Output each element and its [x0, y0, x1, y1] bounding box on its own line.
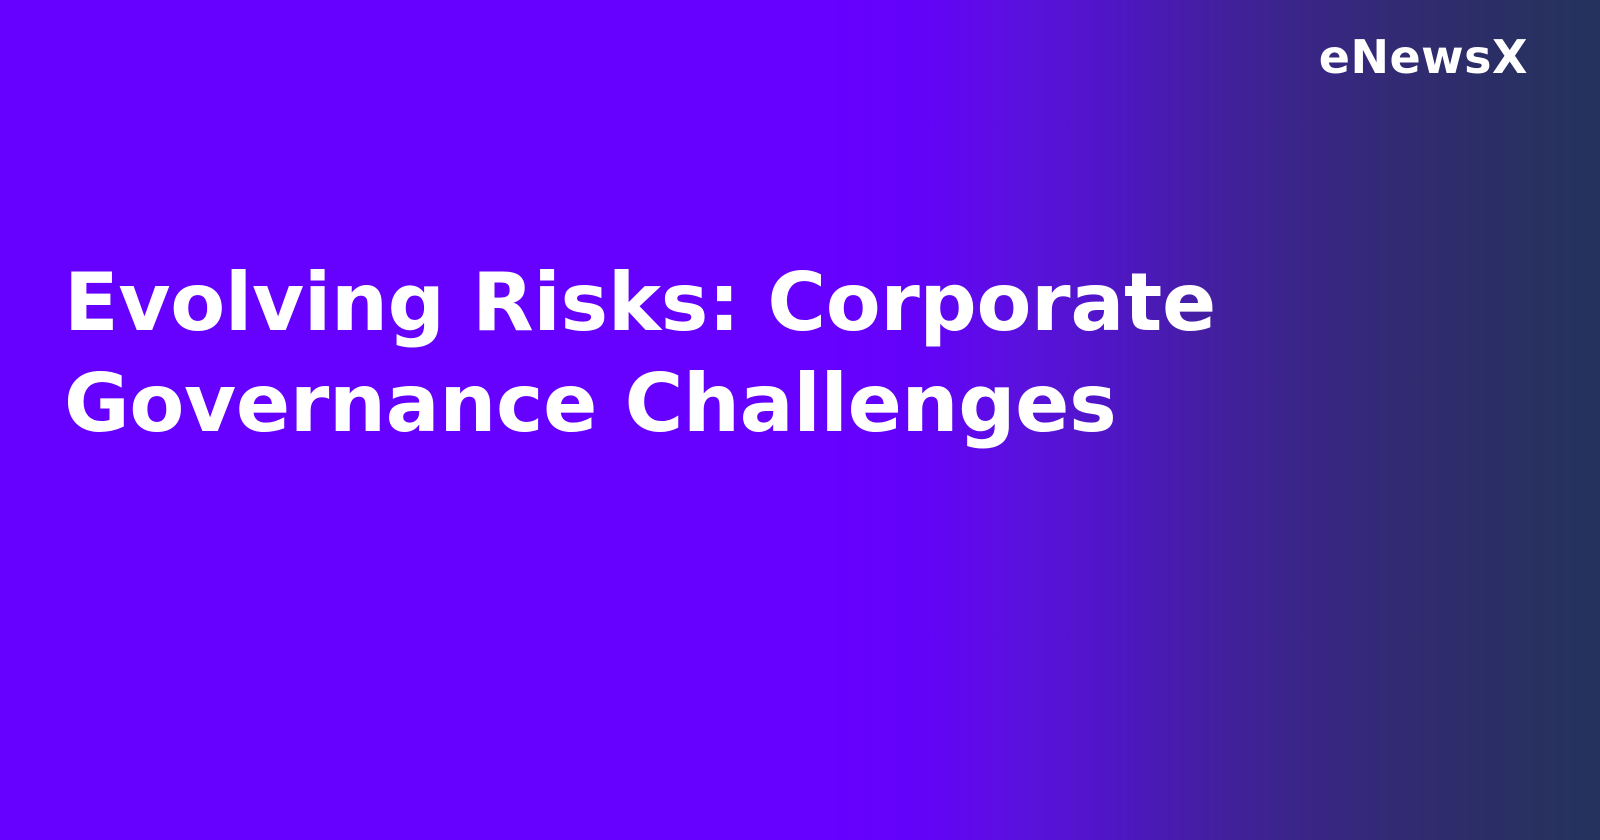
article-headline: Evolving Risks: Corporate Governance Cha… — [64, 252, 1294, 454]
headline-block: Evolving Risks: Corporate Governance Cha… — [64, 252, 1364, 454]
brand-logo[interactable]: eNewsX — [1319, 34, 1528, 80]
news-hero-card: eNewsX Evolving Risks: Corporate Governa… — [0, 0, 1600, 840]
